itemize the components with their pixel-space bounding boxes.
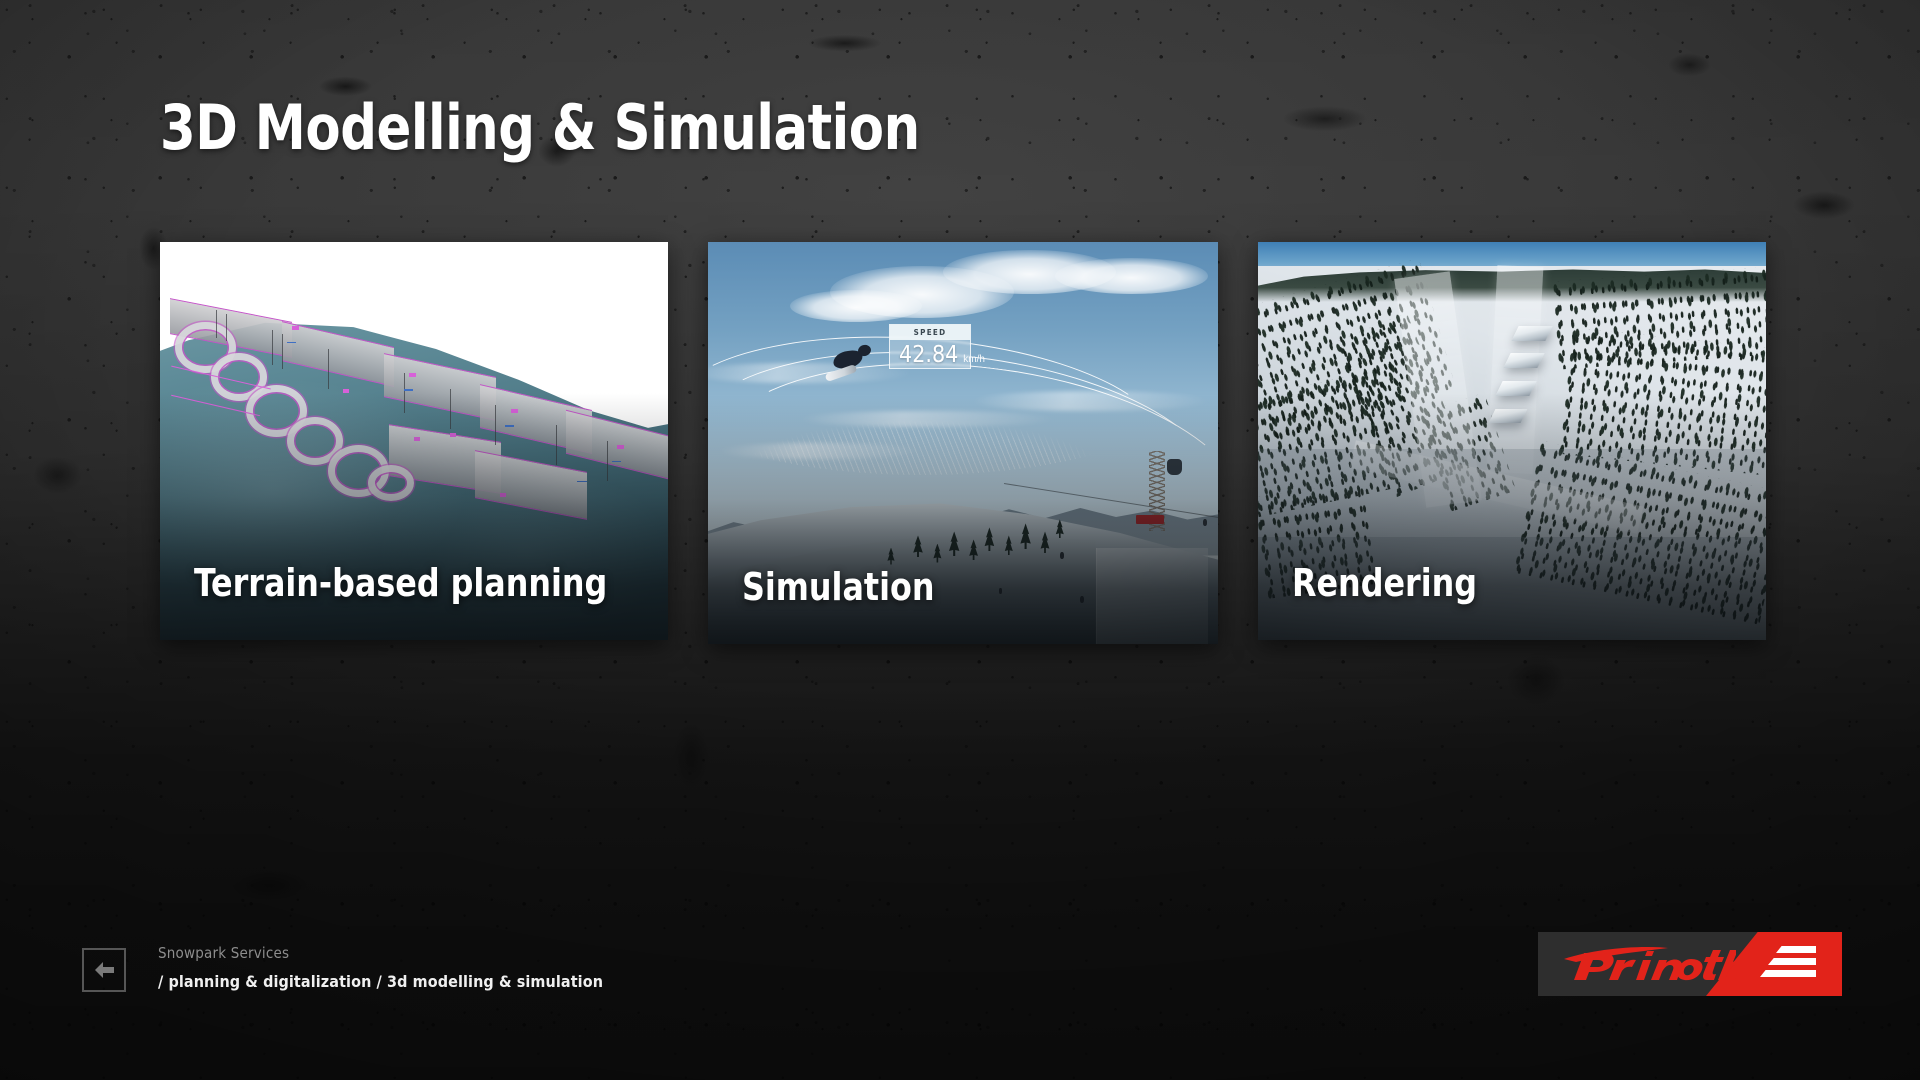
card-grid: Terrain-based planning (160, 242, 1766, 648)
gondola-station (1136, 515, 1164, 524)
cloud (1055, 258, 1208, 294)
terrain-marker (500, 493, 506, 497)
terrain-section-line (404, 373, 405, 413)
terrain-marker (577, 481, 587, 483)
terrain-section-line (450, 389, 451, 429)
app-stage: 3D Modelling & Simulation (0, 0, 1920, 1080)
simulation-volume-box (1096, 548, 1208, 644)
terrain-section-line (226, 314, 227, 342)
terrain-section-line (216, 310, 217, 338)
jump-kicker (1488, 409, 1527, 423)
skier (1203, 519, 1207, 526)
card-terrain-media (160, 242, 668, 640)
terrain-marker (343, 389, 349, 393)
skier (1060, 552, 1064, 559)
speed-hud-body: 42.84 km/h (890, 340, 970, 367)
page-title: 3D Modelling & Simulation (160, 92, 920, 164)
gondola-cabin (1167, 459, 1182, 475)
back-button[interactable] (82, 948, 126, 992)
speed-hud-unit: km/h (963, 354, 985, 365)
arrow-left-icon (92, 961, 116, 979)
terrain-marker (617, 445, 624, 449)
terrain-marker (287, 342, 296, 344)
prinoth-stripes-icon (1760, 946, 1816, 982)
breadcrumb: Snowpark Services / planning & digitaliz… (158, 942, 603, 994)
speed-hud-header: SPEED (890, 325, 970, 340)
terrain-section-line (328, 349, 329, 389)
terrain-section-line (607, 441, 608, 481)
prinoth-logo[interactable] (1538, 932, 1842, 996)
speed-hud: SPEED 42.84 km/h (889, 324, 971, 369)
slope-shading (1258, 537, 1766, 640)
terrain-section-line (556, 425, 557, 465)
terrain-marker (409, 373, 416, 377)
terrain-marker (511, 409, 518, 413)
terrain-ribbon-curve (368, 465, 414, 501)
card-terrain-based-planning[interactable]: Terrain-based planning (160, 242, 668, 640)
terrain-section-line (282, 334, 283, 370)
skier (999, 588, 1002, 594)
breadcrumb-path: / planning & digitalization / 3d modelli… (158, 970, 603, 994)
prinoth-wordmark (1560, 942, 1736, 986)
terrain-marker (414, 437, 420, 441)
terrain-marker (612, 461, 621, 463)
terrain-marker (404, 389, 413, 391)
skier (1080, 596, 1084, 603)
speed-hud-value: 42.84 (899, 343, 958, 367)
card-rendering[interactable]: Rendering (1258, 242, 1766, 640)
card-simulation-media: SPEED 42.84 km/h (708, 242, 1218, 644)
terrain-section-line (272, 330, 273, 366)
speed-hud-title: SPEED (914, 328, 947, 337)
card-simulation[interactable]: SPEED 42.84 km/h Simulation (708, 242, 1218, 644)
terrain-marker (292, 326, 299, 330)
terrain-marker (505, 425, 514, 427)
terrain-marker (450, 433, 456, 437)
footer: Snowpark Services / planning & digitaliz… (0, 940, 1920, 1080)
jump-kicker (1511, 326, 1552, 341)
breadcrumb-parent[interactable]: Snowpark Services (158, 942, 603, 964)
card-rendering-media (1258, 242, 1766, 640)
terrain-section-line (495, 405, 496, 445)
